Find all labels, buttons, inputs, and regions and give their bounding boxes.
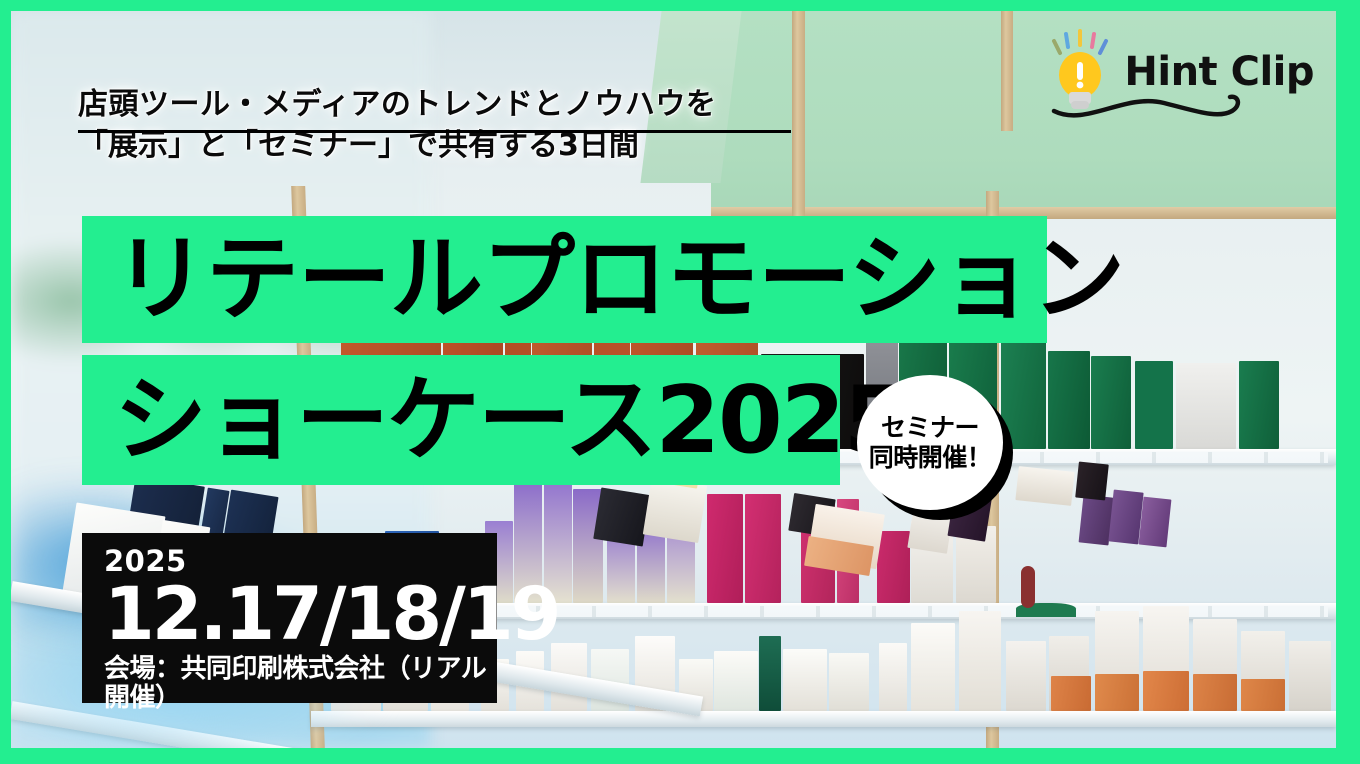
photo-product-box xyxy=(1015,466,1074,506)
photo-product-box xyxy=(1143,671,1189,711)
seminar-badge-line-2: 同時開催！ xyxy=(869,444,992,472)
photo-product-box xyxy=(1289,641,1331,711)
background-photo: 店頭ツール・メディアのトレンドとノウハウを 「展示」と「セミナー」で共有する3日… xyxy=(11,11,1336,748)
photo-product-box xyxy=(1176,363,1236,449)
photo-product-box xyxy=(1021,566,1035,608)
title-band-1: リテールプロモーション xyxy=(82,216,1047,343)
photo-product-box xyxy=(1091,356,1131,449)
photo-product-box xyxy=(829,653,869,711)
photo-product-box xyxy=(1095,674,1139,711)
photo-product-box xyxy=(879,643,907,711)
title-line-2: ショーケース2025 xyxy=(82,374,906,467)
date-days: 12.17/18/19 xyxy=(104,578,497,652)
photo-product-box xyxy=(1135,361,1173,449)
seminar-badge-circle: セミナー 同時開催！ xyxy=(857,375,1003,510)
photo-product-box xyxy=(643,477,707,543)
photo-product-box xyxy=(1051,676,1091,711)
title-band-2: ショーケース2025 xyxy=(82,355,840,485)
title-line-1: リテールプロモーション xyxy=(82,233,1124,326)
photo-product-box xyxy=(959,611,1001,711)
date-box: 2025 12.17/18/19 会場：共同印刷株式会社（リアル開催） xyxy=(82,533,497,703)
photo-product-box xyxy=(1193,674,1237,711)
photo-product-box xyxy=(1006,641,1046,711)
photo-product-box xyxy=(593,487,651,546)
subtitle: 店頭ツール・メディアのトレンドとノウハウを 「展示」と「セミナー」で共有する3日… xyxy=(78,84,838,167)
photo-product-box xyxy=(759,636,781,711)
photo-product-box xyxy=(1241,679,1285,711)
photo-product-box xyxy=(911,623,955,711)
seminar-badge: セミナー 同時開催！ xyxy=(857,375,1017,520)
photo-product-box xyxy=(877,531,910,603)
logo-cord-icon xyxy=(1046,89,1256,123)
seminar-badge-line-1: セミナー xyxy=(881,414,979,442)
brand-logo[interactable]: Hint Clip xyxy=(1042,29,1314,115)
photo-product-box xyxy=(1075,462,1109,501)
photo-product-box xyxy=(783,649,827,711)
promo-banner: 店頭ツール・メディアのトレンドとノウハウを 「展示」と「セミナー」で共有する3日… xyxy=(0,0,1360,764)
date-venue: 会場：共同印刷株式会社（リアル開催） xyxy=(104,655,497,712)
photo-product-box xyxy=(745,494,781,603)
subtitle-divider xyxy=(78,130,791,133)
photo-wood-post xyxy=(1001,11,1013,131)
photo-product-box xyxy=(1239,361,1279,449)
photo-product-box xyxy=(1139,497,1172,548)
subtitle-line-1: 店頭ツール・メディアのトレンドとノウハウを xyxy=(78,84,838,125)
photo-product-box xyxy=(1048,351,1090,449)
photo-product-box xyxy=(707,494,743,603)
photo-product-box xyxy=(714,651,758,711)
